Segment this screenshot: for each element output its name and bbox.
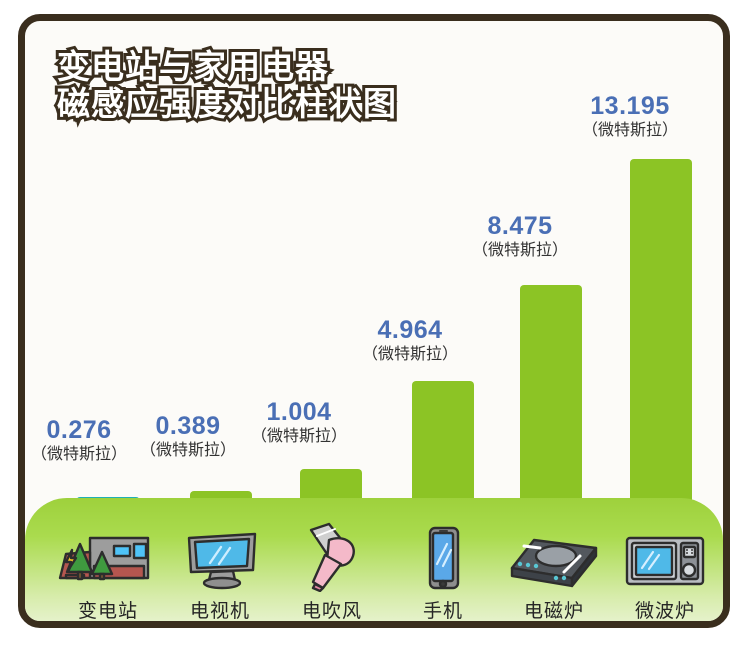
microwave-oven-icon bbox=[610, 520, 720, 592]
bar-value-3: 4.964 （微特斯拉） bbox=[335, 317, 485, 363]
bar-value-number-1: 0.389 bbox=[155, 412, 220, 440]
category-induction-cooker: 电磁炉 bbox=[499, 520, 609, 628]
title-line-1: 变电站与家用电器 bbox=[57, 49, 397, 86]
substation-icon bbox=[53, 520, 163, 592]
category-substation: 变电站 bbox=[53, 520, 163, 628]
category-microwave-oven: 微波炉 bbox=[610, 520, 720, 628]
bar-value-number-0: 0.276 bbox=[46, 416, 111, 444]
bar-mobile-phone bbox=[412, 381, 474, 509]
induction-cooker-icon bbox=[499, 520, 609, 592]
category-label-0: 变电站 bbox=[53, 596, 163, 628]
category-label-2: 电吹风 bbox=[277, 596, 387, 628]
category-label-1: 电视机 bbox=[165, 596, 275, 628]
bar-value-4: 8.475 （微特斯拉） bbox=[445, 213, 595, 259]
frame-border: 变电站与家用电器 磁感应强度对比柱状图 0.276 （微特斯拉） 0.389 （… bbox=[18, 14, 730, 628]
bar-value-unit-5: （微特斯拉） bbox=[555, 122, 705, 139]
bar-value-unit-3: （微特斯拉） bbox=[335, 346, 485, 363]
bar-value-unit-2: （微特斯拉） bbox=[224, 428, 374, 445]
bar-value-unit-4: （微特斯拉） bbox=[445, 242, 595, 259]
category-television: 电视机 bbox=[165, 520, 275, 628]
bar-value-number-2: 1.004 bbox=[266, 398, 331, 426]
category-label-5: 微波炉 bbox=[610, 596, 720, 628]
bar-value-number-5: 13.195 bbox=[590, 92, 669, 120]
category-label-3: 手机 bbox=[388, 596, 498, 628]
bar-value-number-3: 4.964 bbox=[377, 316, 442, 344]
television-icon bbox=[165, 520, 275, 592]
category-label-4: 电磁炉 bbox=[499, 596, 609, 628]
mobile-phone-icon bbox=[388, 520, 498, 592]
bar-microwave-oven bbox=[630, 159, 692, 509]
bar-induction-cooker bbox=[520, 285, 582, 509]
bar-value-number-4: 8.475 bbox=[487, 212, 552, 240]
title-line-2: 磁感应强度对比柱状图 bbox=[57, 86, 397, 123]
category-axis: 变电站 bbox=[25, 498, 723, 628]
hairdryer-icon bbox=[277, 520, 387, 592]
page-title: 变电站与家用电器 磁感应强度对比柱状图 bbox=[57, 49, 397, 123]
bar-value-5: 13.195 （微特斯拉） bbox=[555, 93, 705, 139]
category-hairdryer: 电吹风 bbox=[277, 520, 387, 628]
bar-value-2: 1.004 （微特斯拉） bbox=[224, 399, 374, 445]
infographic-root: 变电站与家用电器 磁感应强度对比柱状图 0.276 （微特斯拉） 0.389 （… bbox=[0, 0, 750, 664]
category-mobile-phone: 手机 bbox=[388, 520, 498, 628]
